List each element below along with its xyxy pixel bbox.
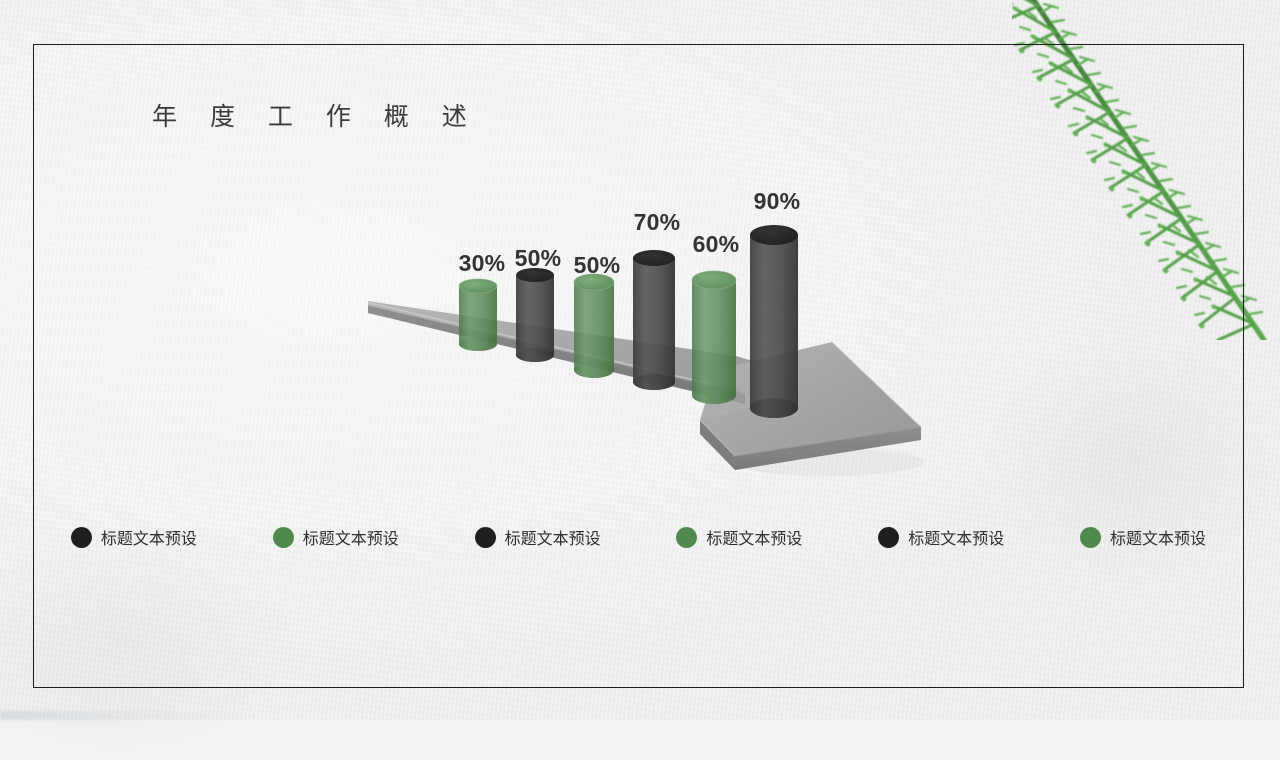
legend-dot-icon — [1080, 527, 1101, 548]
chart-legend: 标题文本预设 标题文本预设 标题文本预设 标题文本预设 标题文本预设 标题文本预… — [33, 525, 1244, 549]
legend-item[interactable]: 标题文本预设 — [71, 525, 197, 549]
legend-item[interactable]: 标题文本预设 — [1080, 525, 1206, 549]
bar-value-label: 30% — [459, 250, 506, 277]
legend-item-label: 标题文本预设 — [505, 525, 601, 549]
legend-dot-icon — [273, 527, 294, 548]
legend-item-label: 标题文本预设 — [101, 525, 197, 549]
slide-border-frame — [33, 44, 1244, 688]
cropped-bottom-element — [0, 711, 250, 720]
legend-item[interactable]: 标题文本预设 — [676, 525, 802, 549]
legend-item[interactable]: 标题文本预设 — [273, 525, 399, 549]
bar-value-label: 50% — [574, 252, 621, 279]
legend-dot-icon — [71, 527, 92, 548]
legend-item-label: 标题文本预设 — [303, 525, 399, 549]
legend-item[interactable]: 标题文本预设 — [878, 525, 1004, 549]
page-title: 年 度 工 作 概 述 — [152, 97, 480, 133]
legend-dot-icon — [878, 527, 899, 548]
legend-item-label: 标题文本预设 — [1110, 525, 1206, 549]
bar-value-label: 90% — [754, 188, 801, 215]
legend-dot-icon — [676, 527, 697, 548]
legend-dot-icon — [475, 527, 496, 548]
bar-value-label: 70% — [634, 209, 681, 236]
legend-item-label: 标题文本预设 — [706, 525, 802, 549]
legend-item[interactable]: 标题文本预设 — [475, 525, 601, 549]
bar-value-label: 50% — [515, 245, 562, 272]
bar-value-label: 60% — [693, 231, 740, 258]
legend-item-label: 标题文本预设 — [908, 525, 1004, 549]
